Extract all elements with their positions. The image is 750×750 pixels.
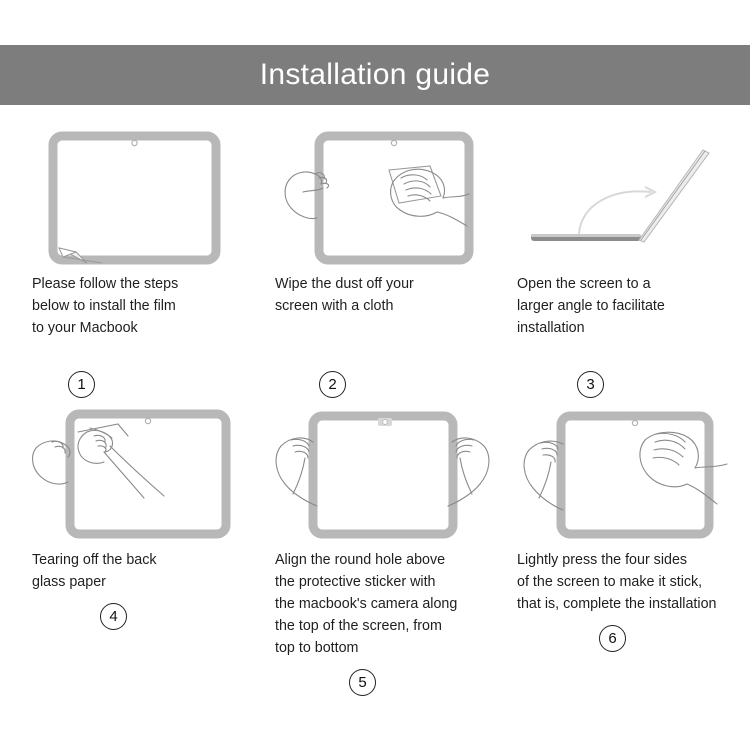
step-number-badge: 4 — [100, 603, 127, 630]
step-item-5: Align the round hole above the protectiv… — [245, 406, 495, 696]
step-number-badge: 3 — [577, 371, 604, 398]
step-caption: Lightly press the four sides of the scre… — [517, 549, 716, 615]
illustration-hand-wiping-screen — [275, 130, 490, 265]
step-caption: Tearing off the back glass paper — [32, 549, 157, 593]
step-caption: Please follow the steps below to install… — [32, 273, 178, 339]
step-caption: Wipe the dust off your screen with a clo… — [275, 273, 414, 317]
step-number-row: 6 — [517, 625, 750, 652]
step-item-4: Tearing off the back glass paper 4 — [0, 406, 245, 696]
step-item-2: Wipe the dust off your screen with a clo… — [245, 130, 495, 406]
installation-steps-grid: Please follow the steps below to install… — [0, 130, 750, 696]
step-number-badge: 2 — [319, 371, 346, 398]
illustration-laptop-open-angle — [517, 130, 735, 265]
step-number-badge: 1 — [68, 371, 95, 398]
page-title: Installation guide — [260, 60, 491, 90]
step-item-6: Lightly press the four sides of the scre… — [495, 406, 750, 696]
step-caption: Align the round hole above the protectiv… — [275, 549, 457, 659]
step-item-1: Please follow the steps below to install… — [0, 130, 245, 406]
illustration-pressing-screen-sides — [517, 406, 735, 541]
header-banner: Installation guide — [0, 45, 750, 105]
step-item-3: Open the screen to a larger angle to fac… — [495, 130, 750, 406]
illustration-tablet-with-peeling-film — [32, 130, 237, 265]
step-number-row: 3 — [495, 371, 750, 398]
step-number-badge: 6 — [599, 625, 626, 652]
illustration-aligning-film-two-hands — [275, 406, 490, 541]
step-number-badge: 5 — [349, 669, 376, 696]
illustration-tearing-back-paper — [32, 406, 237, 541]
step-caption: Open the screen to a larger angle to fac… — [517, 273, 665, 339]
